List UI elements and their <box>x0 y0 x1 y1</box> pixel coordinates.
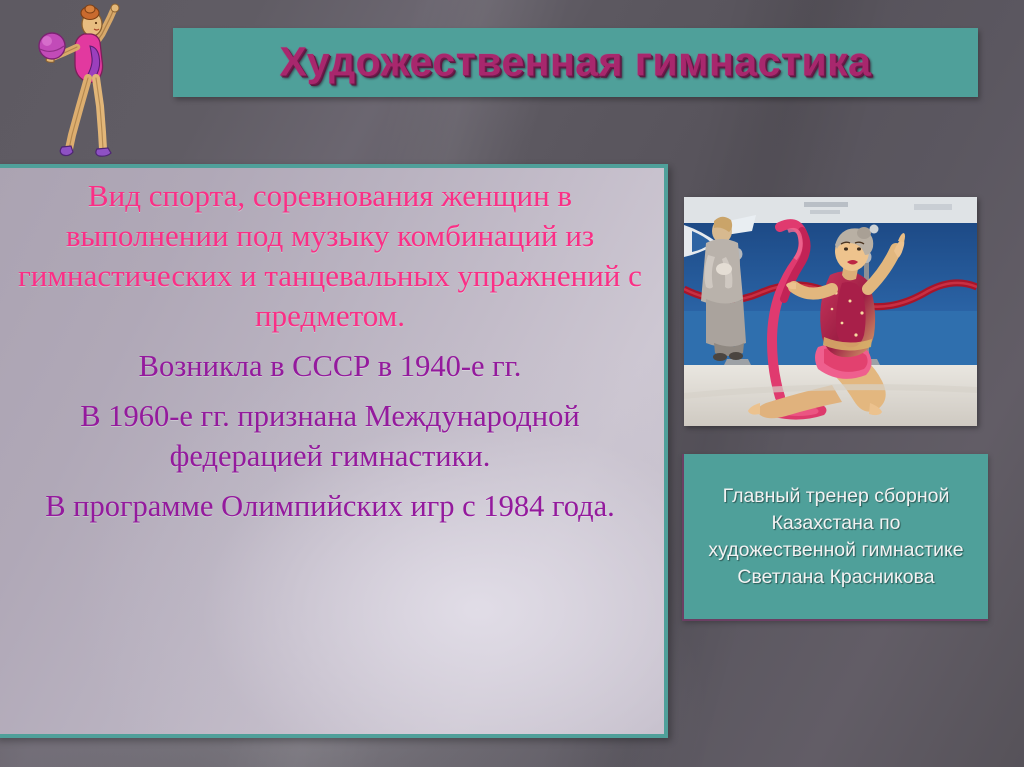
paragraph-recognition: В 1960-е гг. признана Международной феде… <box>6 396 654 476</box>
presentation-slide: Художественная гимнастика Вид спорта, со… <box>0 0 1024 767</box>
paragraph-definition: Вид спорта, соревнования женщин в выполн… <box>6 176 654 336</box>
paragraph-olympic: В программе Олимпийских игр с 1984 года. <box>6 486 654 526</box>
paragraph-origin: Возникла в СССР в 1940-е гг. <box>6 346 654 386</box>
content-text-block: Вид спорта, соревнования женщин в выполн… <box>6 176 654 526</box>
slide-title-band: Художественная гимнастика <box>173 28 978 97</box>
content-panel: Вид спорта, соревнования женщин в выполн… <box>0 164 668 738</box>
photo-caption-box: Главный тренер сборной Казахстана по худ… <box>682 454 988 621</box>
photo-caption-text: Главный тренер сборной Казахстана по худ… <box>684 483 988 591</box>
gymnast-with-ball-clipart-icon <box>28 2 148 167</box>
gymnast-ribbon-photo-image <box>684 197 977 426</box>
gymnast-photo <box>684 197 977 426</box>
page-title: Художественная гимнастика <box>173 38 978 85</box>
gymnast-clipart-svg <box>28 2 148 167</box>
